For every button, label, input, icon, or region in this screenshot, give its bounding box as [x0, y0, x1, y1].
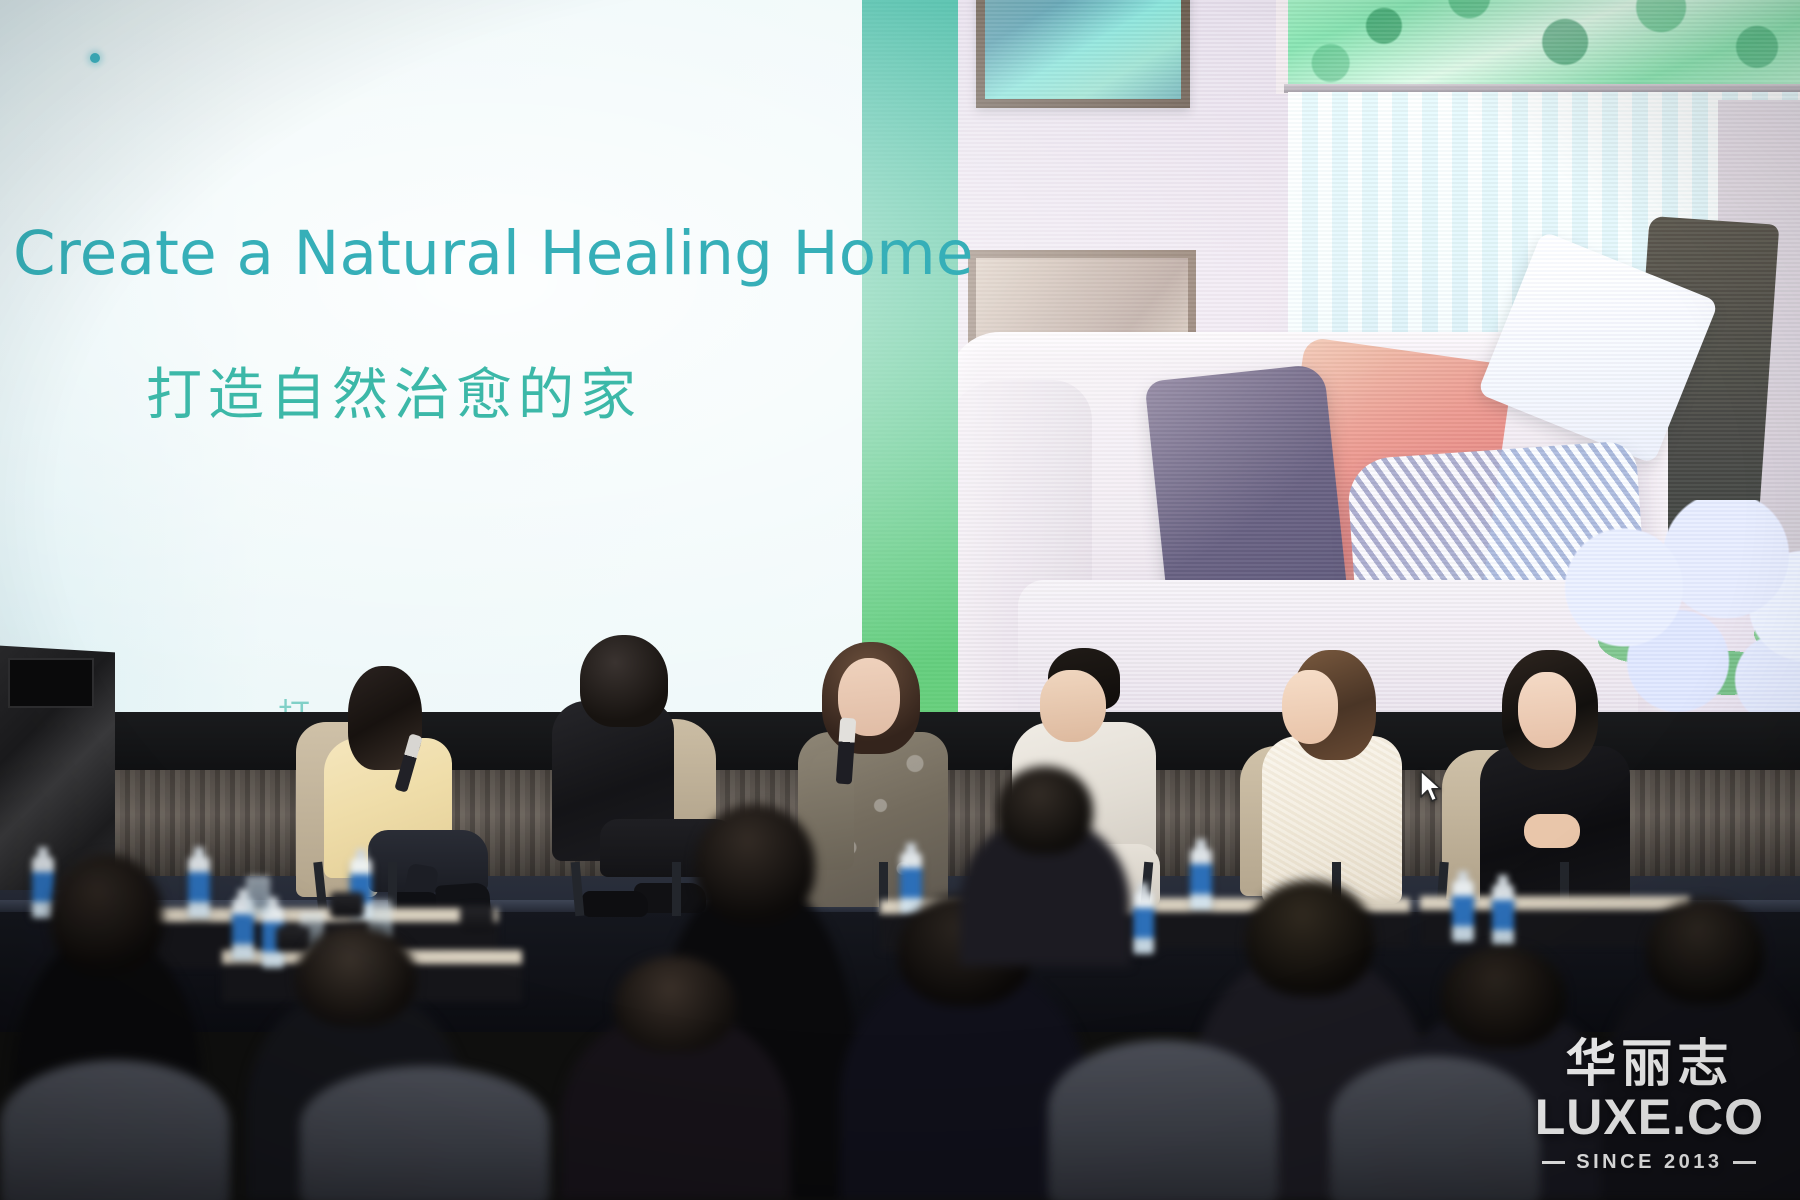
audience-chair: [1330, 1056, 1540, 1200]
stage-left-speaker-vent: [8, 658, 94, 708]
shoe-right: [582, 891, 648, 917]
audience-head: [614, 956, 736, 1052]
dash-right-icon: [1733, 1161, 1756, 1164]
watermark-latin-name: LUXE.CO: [1535, 1092, 1764, 1142]
table-device: [460, 906, 494, 932]
drinking-glass: [246, 876, 270, 916]
slide-bullet-dot: [90, 53, 100, 63]
slide-living-room-photo: [958, 0, 1800, 712]
slide-title-english: Create a Natural Healing Home: [13, 218, 974, 289]
audience-head: [296, 926, 416, 1026]
panelist-moderator: [296, 660, 506, 920]
watermark-since-text: SINCE 2013: [1576, 1151, 1722, 1174]
water-bottle: [188, 856, 210, 918]
projection-screen: Create a Natural Healing Home 打造自然治愈的家 打…: [0, 0, 1800, 720]
audience-head: [695, 804, 815, 924]
face: [1518, 672, 1576, 748]
audience-head: [51, 854, 163, 976]
head: [580, 635, 668, 727]
conference-photo: Create a Natural Healing Home 打造自然治愈的家 打…: [0, 0, 1800, 1200]
audience-head: [997, 766, 1093, 854]
audience-chair: [0, 1060, 230, 1200]
chair-leg: [672, 862, 681, 916]
watermark-logo: 华丽志 LUXE.CO SINCE 2013: [1535, 1039, 1764, 1174]
panelist-5: [1256, 650, 1436, 910]
audience-head: [1246, 880, 1374, 996]
audience-head: [1441, 946, 1565, 1048]
water-bottle: [1492, 884, 1514, 946]
audience-chair: [300, 1066, 550, 1200]
watermark-since-line: SINCE 2013: [1535, 1151, 1764, 1174]
water-bottle: [1132, 892, 1154, 954]
audience-chair: [1048, 1040, 1278, 1200]
water-bottle: [1190, 848, 1212, 910]
dash-left-icon: [1542, 1161, 1565, 1164]
water-bottle: [1452, 880, 1474, 942]
audience-head: [1646, 898, 1764, 1004]
photo-framed-artwork: [976, 0, 1190, 108]
face: [1282, 670, 1338, 744]
watermark-chinese-name: 华丽志: [1535, 1039, 1764, 1090]
hands: [1524, 814, 1580, 848]
photo-window-foliage: [1276, 0, 1800, 94]
table-device: [330, 892, 364, 918]
water-bottle: [900, 852, 922, 914]
face: [1040, 670, 1106, 742]
slide-title-chinese: 打造自然治愈的家: [146, 350, 642, 431]
